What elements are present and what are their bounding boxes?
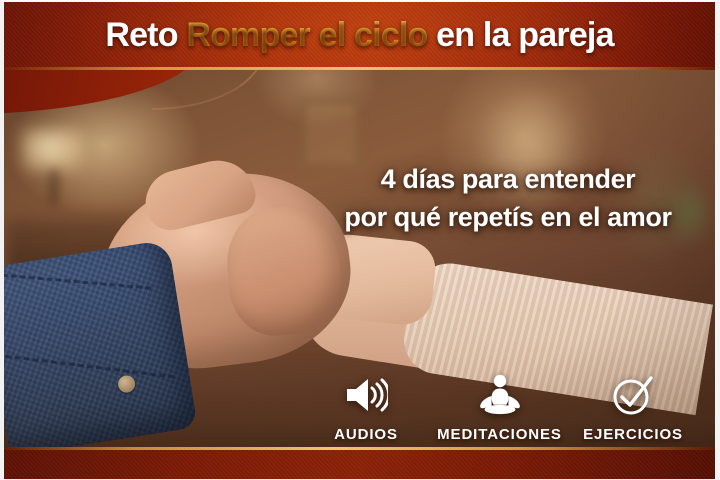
meditation-lotus-icon bbox=[477, 373, 523, 417]
feature-label-audios: AUDIOS bbox=[334, 426, 398, 443]
denim-cuff bbox=[0, 239, 198, 456]
feature-label-ejercicios: EJERCICIOS bbox=[583, 426, 683, 443]
subtitle: 4 días para entender por qué repetís en … bbox=[343, 160, 673, 236]
title-segment-highlight: Romper el ciclo bbox=[186, 16, 427, 54]
bottom-gold-accent-line bbox=[4, 447, 715, 450]
title-segment-reto: Reto bbox=[105, 16, 186, 54]
feature-meditaciones: MEDITACIONES bbox=[434, 373, 566, 443]
page-title: Reto Romper el ciclo en la pareja bbox=[4, 10, 715, 60]
denim-seam bbox=[2, 274, 152, 290]
feature-audios: AUDIOS bbox=[300, 373, 432, 443]
check-circle-icon bbox=[611, 373, 655, 417]
denim-button bbox=[117, 374, 136, 393]
title-segment-suffix: en la pareja bbox=[428, 16, 614, 54]
speaker-volume-icon bbox=[344, 373, 388, 417]
feature-list: AUDIOS MEDITACIONES EJERC bbox=[300, 373, 699, 443]
subtitle-line-1: 4 días para entender bbox=[343, 160, 673, 198]
bottom-bar-texture bbox=[4, 447, 715, 479]
subtitle-line-2: por qué repetís en el amor bbox=[343, 198, 673, 236]
feature-label-meditaciones: MEDITACIONES bbox=[437, 426, 562, 443]
feature-ejercicios: EJERCICIOS bbox=[567, 373, 699, 443]
denim-seam bbox=[5, 355, 174, 379]
bottom-bar bbox=[4, 447, 715, 479]
promo-card: Reto Romper el ciclo en la pareja 4 días… bbox=[0, 0, 720, 480]
banner-gold-accent-line bbox=[4, 67, 715, 70]
